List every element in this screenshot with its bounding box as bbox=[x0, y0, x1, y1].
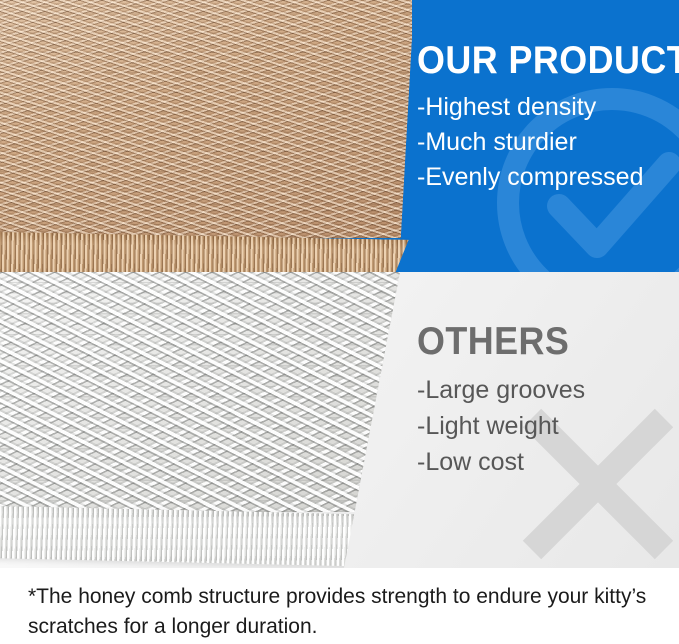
our-product-bullet-1: -Highest density bbox=[417, 90, 679, 125]
infographic-canvas: OUR PRODUCT -Highest density -Much sturd… bbox=[0, 0, 679, 644]
gray-corrugation-edge bbox=[0, 506, 400, 567]
others-bullet-1: -Large grooves bbox=[417, 372, 679, 408]
others-text-block: OTHERS -Large grooves -Light weight -Low… bbox=[417, 320, 679, 480]
tan-honeycomb-surface bbox=[0, 0, 412, 238]
our-product-cardboard-image bbox=[0, 0, 412, 272]
our-product-heading: OUR PRODUCT bbox=[417, 40, 658, 82]
our-product-bullet-3: -Evenly compressed bbox=[417, 160, 679, 195]
footnote-text: *The honey comb structure provides stren… bbox=[28, 582, 658, 642]
others-bullet-2: -Light weight bbox=[417, 408, 679, 444]
our-product-bullet-2: -Much sturdier bbox=[417, 125, 679, 160]
our-product-text-block: OUR PRODUCT -Highest density -Much sturd… bbox=[417, 40, 679, 195]
tan-corrugation-edge bbox=[0, 232, 412, 272]
others-bullet-3: -Low cost bbox=[417, 444, 679, 480]
others-heading: OTHERS bbox=[417, 320, 658, 364]
gray-honeycomb-surface bbox=[0, 272, 400, 512]
others-cardboard-image bbox=[0, 272, 400, 568]
footnote-bar: *The honey comb structure provides stren… bbox=[0, 568, 679, 644]
